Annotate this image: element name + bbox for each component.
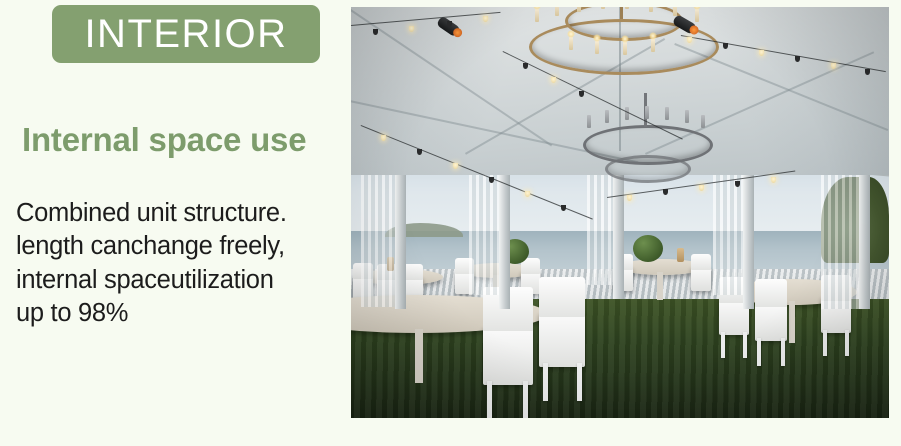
chandelier-large-candle-8 [695, 9, 699, 22]
string-bulb-4d [489, 177, 494, 183]
chandelier-large-candle-11 [623, 42, 627, 55]
string-bulb-1d [483, 16, 488, 22]
table-distant-right-leg [657, 272, 663, 300]
string-bulb-3b [551, 77, 556, 83]
post-right [859, 159, 870, 309]
description-line-4: up to 98% [16, 297, 346, 330]
chandelier-small-candle-4 [645, 106, 649, 119]
chandelier-small-candle-6 [685, 110, 689, 123]
category-badge-label: INTERIOR [84, 14, 287, 54]
section-heading: Internal space use [22, 122, 306, 158]
curtain-right [821, 159, 859, 309]
photo-scene [351, 7, 889, 418]
chandelier-small-candle-5 [665, 107, 669, 120]
description-line-2: length canchange freely, [16, 230, 346, 263]
chair-distant-7-back [691, 254, 711, 270]
string-bulb-3a [523, 63, 528, 69]
string-bulb-4c [453, 163, 458, 169]
chandelier-large-candle-6 [649, 7, 653, 12]
string-bulb-4e [525, 191, 530, 197]
curtain-left [361, 159, 395, 307]
table-vase-right [677, 248, 684, 262]
chandelier-large-candle-4 [601, 7, 605, 9]
chair-foreground-5-back [539, 277, 585, 317]
chandelier-large-candle-3 [577, 7, 581, 12]
description-line-1: Combined unit structure. [16, 197, 346, 230]
chandelier-small-lower-ring [605, 155, 691, 183]
marquee-interior-photo [351, 7, 889, 418]
string-bulb-2b [723, 43, 728, 49]
table-right-leg [789, 301, 795, 343]
string-bulb-2d [795, 56, 800, 62]
chandelier-large-rod [620, 7, 623, 19]
string-bulb-1a [373, 29, 378, 35]
chair-foreground-4-leg-b [523, 381, 528, 418]
chandelier-large-candle-1 [535, 9, 539, 22]
category-badge: INTERIOR [52, 5, 320, 63]
chandelier-small [583, 103, 713, 169]
chandelier-large-candle-9 [569, 37, 573, 50]
curtain-center [587, 159, 613, 285]
chair-right-2-leg-a [757, 338, 761, 366]
string-bulb-5a [627, 195, 632, 201]
chair-distant-3-back [403, 264, 423, 280]
string-bulb-4f [561, 205, 566, 211]
chandelier-large-candle-2 [555, 7, 559, 16]
chandelier-large [529, 7, 719, 79]
chandelier-large-candle-7 [673, 7, 677, 16]
string-bulb-1b [409, 26, 414, 32]
string-bulb-2c [759, 50, 764, 56]
chair-right-2-leg-b [781, 338, 785, 366]
string-bulb-2e [831, 63, 836, 69]
chandelier-small-candle-1 [587, 115, 591, 128]
string-bulb-5d [735, 181, 740, 187]
description-line-3: internal spaceutilization [16, 264, 346, 297]
string-bulb-2f [865, 69, 870, 75]
chair-foreground-5-leg-a [543, 363, 548, 401]
post-left [395, 159, 406, 309]
string-bulb-4a [381, 135, 386, 141]
chair-foreground-5 [539, 313, 585, 367]
chandelier-large-candle-10 [595, 41, 599, 54]
chandelier-large-candle-5 [625, 7, 629, 9]
chair-right-2-back [755, 279, 787, 307]
chair-distant-7 [691, 267, 711, 291]
post-mid-right [743, 159, 754, 309]
string-bulb-2a [687, 37, 692, 43]
string-bulb-1c [447, 21, 452, 27]
description-text: Combined unit structure. length canchang… [16, 197, 346, 331]
chair-foreground-4 [483, 327, 533, 385]
chair-right-2 [755, 303, 787, 341]
string-bulb-5e [771, 177, 776, 183]
topiary-ball-right [633, 235, 663, 262]
chandelier-small-candle-7 [701, 115, 705, 128]
string-bulb-3c [579, 91, 584, 97]
string-bulb-5b [663, 189, 668, 195]
string-bulb-4b [417, 149, 422, 155]
chair-right-1-leg-b [743, 332, 747, 358]
chair-right-1-leg-a [721, 332, 725, 358]
table-foreground-leg [415, 329, 423, 383]
chair-foreground-5-leg-b [577, 363, 582, 401]
string-bulb-5c [699, 185, 704, 191]
interior-feature-banner: INTERIOR Internal space use Combined uni… [0, 0, 901, 446]
chair-right-3-leg-a [823, 330, 827, 356]
chandelier-large-candle-12 [651, 39, 655, 52]
chandelier-small-candle-2 [605, 110, 609, 123]
chair-foreground-4-leg-a [487, 381, 492, 418]
text-panel: INTERIOR Internal space use Combined uni… [0, 0, 350, 446]
chair-right-3-leg-b [845, 330, 849, 356]
